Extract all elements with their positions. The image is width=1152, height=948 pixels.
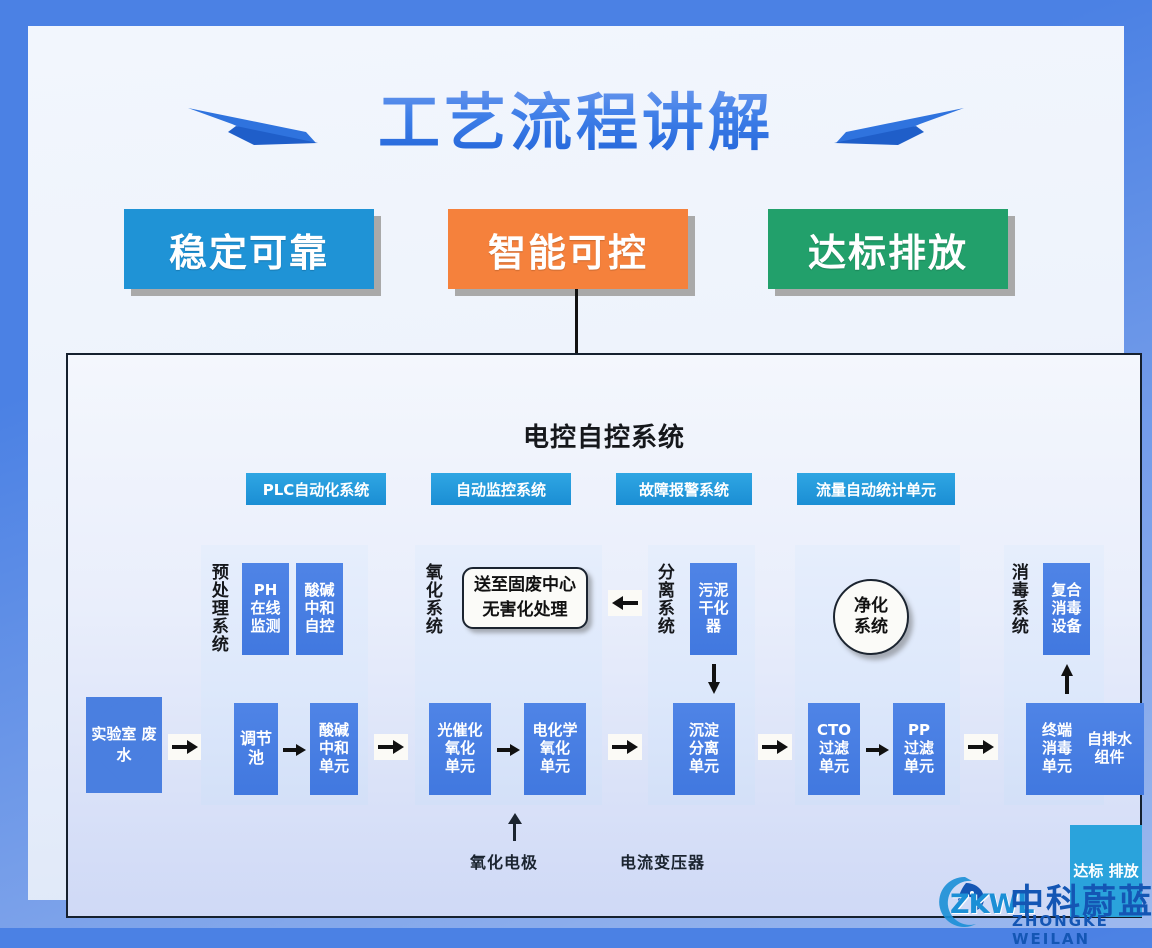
arrow-separation-to-purification (758, 734, 792, 760)
box-electrochemical-line3: 单元 (540, 758, 570, 776)
box-electrochemical-line2: 氧化 (540, 740, 570, 758)
annotation-current-transformer: 电流变压器 (620, 849, 705, 873)
box-acid-auto-control[interactable]: 酸碱 中和 自控 (296, 563, 343, 655)
outlet-drop-line1: 达标 (1073, 862, 1103, 880)
circle-purification-line1: 净化 (854, 596, 888, 617)
control-tag-row: PLC自动化系统 自动监控系统 故障报警系统 流量自动统计单元 (68, 473, 1144, 505)
box-compound-disinfector[interactable]: 复合 消毒 设备 (1043, 563, 1090, 655)
control-tag-monitor[interactable]: 自动监控系统 (431, 473, 571, 505)
box-acid-neutral-unit-line3: 单元 (319, 758, 349, 776)
feature-pill-stable[interactable]: 稳定可靠 (124, 209, 374, 289)
box-equalization-tank-line1: 调节 (240, 730, 272, 749)
box-cto-filter-line2: 过滤 (819, 740, 849, 758)
box-sedimentation-line1: 沉淀 (689, 722, 719, 740)
box-equalization-tank-line2: 池 (248, 749, 264, 768)
box-ph-monitor-line3: 监测 (250, 618, 280, 636)
box-sludge-dryer-line3: 器 (706, 618, 721, 636)
box-cto-filter-line3: 单元 (819, 758, 849, 776)
box-photocatalytic-oxidation[interactable]: 光催化 氧化 单元 (429, 703, 491, 795)
control-tag-plc[interactable]: PLC自动化系统 (246, 473, 386, 505)
group-pretreatment-label: 预处理系统 (208, 563, 226, 653)
box-cto-filter-line1: CTO (817, 722, 851, 740)
box-acid-auto-control-line2: 中和 (304, 600, 334, 618)
flow-diagram: 实验室 废水 预处理系统 PH 在线 监测 酸碱 (68, 545, 1144, 845)
outlet-drop-label: 达标 排放 (1073, 861, 1138, 882)
box-self-drain-assembly[interactable]: 自排水 组件 (1075, 703, 1144, 795)
logo-company-en: ZHONGKE WEILAN (1012, 912, 1152, 948)
box-acid-auto-control-line3: 自控 (304, 618, 334, 636)
feature-pill-row: 稳定可靠 智能可控 达标排放 (28, 209, 1124, 301)
inlet-water-drop: 实验室 废水 (86, 697, 162, 793)
box-electrochemical-oxidation[interactable]: 电化学 氧化 单元 (524, 703, 586, 795)
box-pp-filter-line2: 过滤 (904, 740, 934, 758)
control-tag-alarm[interactable]: 故障报警系统 (616, 473, 752, 505)
feature-pill-discharge[interactable]: 达标排放 (768, 209, 1008, 289)
box-photocatalytic-line1: 光催化 (437, 722, 482, 740)
box-compound-disinfector-line2: 消毒 (1051, 600, 1081, 618)
box-terminal-disinfection-line2: 消毒 (1042, 740, 1072, 758)
group-separation-label: 分离系统 (654, 563, 672, 635)
box-ph-monitor-line1: PH (254, 582, 278, 600)
box-compound-disinfector-line3: 设备 (1051, 618, 1081, 636)
box-self-drain-line2: 组件 (1094, 749, 1124, 767)
annotation-oxidation-electrode: 氧化电极 (470, 849, 538, 873)
arrow-terminal-to-compound (1056, 663, 1078, 695)
box-cto-filter[interactable]: CTO 过滤 单元 (808, 703, 860, 795)
group-oxidation-label: 氧化系统 (422, 563, 440, 635)
panel-title: 电控自控系统 (68, 417, 1140, 454)
box-compound-disinfector-line1: 复合 (1051, 582, 1081, 600)
process-panel: 电控自控系统 PLC自动化系统 自动监控系统 故障报警系统 流量自动统计单元 实… (66, 353, 1142, 918)
circle-purification-system: 净化 系统 (833, 579, 909, 655)
box-acid-neutral-unit-line2: 中和 (319, 740, 349, 758)
note-solid-waste-line1: 送至固废中心 (474, 573, 576, 598)
note-solid-waste-line2: 无害化处理 (483, 598, 568, 623)
box-sludge-dryer-line1: 污泥 (698, 582, 728, 600)
box-sedimentation-separation[interactable]: 沉淀 分离 单元 (673, 703, 735, 795)
box-acid-neutral-unit[interactable]: 酸碱 中和 单元 (310, 703, 358, 795)
arrow-cto-to-pp (863, 739, 893, 761)
title-block: 工艺流程讲解 (28, 72, 1124, 172)
poster-root: 工艺流程讲解 稳定可靠 智能可控 达标排放 电控自控系统 PLC自动化系统 自动… (0, 0, 1152, 928)
box-photocatalytic-line2: 氧化 (445, 740, 475, 758)
box-sedimentation-line2: 分离 (689, 740, 719, 758)
box-electrochemical-line1: 电化学 (532, 722, 577, 740)
arrow-photo-to-electro (494, 739, 524, 761)
box-ph-monitor-line2: 在线 (250, 600, 280, 618)
arrow-inlet-to-pretreat (168, 734, 202, 760)
box-sedimentation-line3: 单元 (689, 758, 719, 776)
box-photocatalytic-line3: 单元 (445, 758, 475, 776)
box-pp-filter[interactable]: PP 过滤 单元 (893, 703, 945, 795)
feature-pill-smart[interactable]: 智能可控 (448, 209, 688, 289)
arrow-tank-to-neutral (280, 739, 310, 761)
box-pp-filter-line1: PP (908, 722, 930, 740)
box-terminal-disinfection-line3: 单元 (1042, 758, 1072, 776)
poster-card: 工艺流程讲解 稳定可靠 智能可控 达标排放 电控自控系统 PLC自动化系统 自动… (28, 26, 1124, 900)
circle-purification-line2: 系统 (854, 617, 888, 638)
note-solid-waste-center: 送至固废中心 无害化处理 (462, 567, 588, 629)
arrow-sludge-to-note (608, 590, 642, 616)
arrow-sediment-to-dryer (703, 663, 725, 695)
box-acid-auto-control-line1: 酸碱 (304, 582, 334, 600)
box-sludge-dryer[interactable]: 污泥 干化 器 (690, 563, 737, 655)
box-pp-filter-line3: 单元 (904, 758, 934, 776)
inlet-drop-label: 实验室 废水 (86, 724, 162, 766)
inlet-drop-line1: 实验室 (91, 725, 136, 743)
arrow-purification-to-disinfection (964, 734, 998, 760)
title-swoosh-right-icon (834, 102, 964, 148)
box-sludge-dryer-line2: 干化 (698, 600, 728, 618)
outlet-drop-line2: 排放 (1109, 862, 1139, 880)
arrow-oxidation-to-separation (608, 734, 642, 760)
box-ph-monitor[interactable]: PH 在线 监测 (242, 563, 289, 655)
arrow-pretreat-to-oxidation (374, 734, 408, 760)
box-equalization-tank[interactable]: 调节 池 (234, 703, 278, 795)
box-self-drain-line1: 自排水 (1087, 731, 1132, 749)
box-acid-neutral-unit-line1: 酸碱 (319, 722, 349, 740)
annotation-electrode-line (513, 823, 516, 841)
box-terminal-disinfection-line1: 终端 (1042, 722, 1072, 740)
group-disinfection-label: 消毒系统 (1008, 563, 1026, 635)
control-tag-flowmeter[interactable]: 流量自动统计单元 (797, 473, 955, 505)
